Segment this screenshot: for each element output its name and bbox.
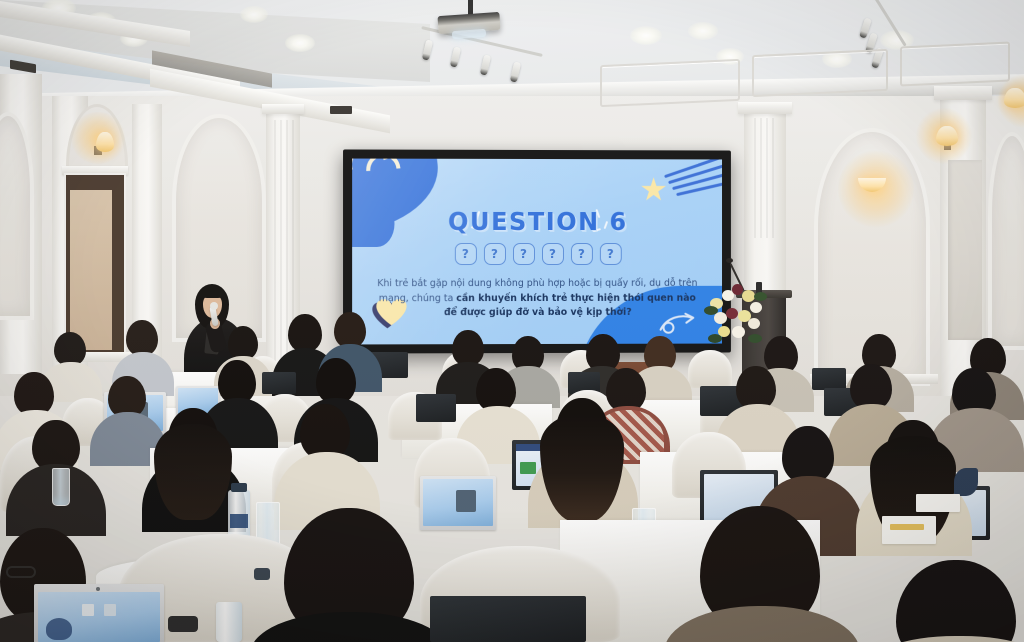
laptop[interactable] [262,372,296,394]
slide-question-text: Khi trẻ bắt gặp nội dung không phù hợp h… [374,277,700,321]
right-doorway[interactable] [948,160,982,340]
podium-microphone [726,258,733,263]
hair-clip-icon [954,468,978,496]
downlight [630,26,662,45]
attendee-long-hair [154,424,232,520]
air-vent [330,106,352,114]
pilaster-cap-mid [262,104,304,114]
wall-sconce-left [96,132,114,152]
pilaster-flute [772,118,774,238]
laptop-foreground[interactable] [430,596,586,642]
downlight [688,22,718,40]
table-puck [254,568,270,580]
attendee-head [228,326,258,360]
wall-sconce-far-right [1004,88,1024,108]
question-mark-icon: ? [570,243,592,265]
wall-panel [752,49,888,97]
laptop-screen-thumb [456,490,476,512]
slide-question-bold: cần khuyến khích trẻ thực hiện thói quen… [444,292,696,318]
speaker-hair-fringe [199,286,226,298]
bottle-cap [231,483,247,492]
shooting-star-icon [641,177,667,202]
flower-leaf [754,292,767,301]
pilaster-flute [754,118,756,238]
question-mark-icon: ? [483,243,505,265]
drinking-glass [52,468,70,506]
laptop-screen-badge [520,462,536,474]
flower-petal [748,318,760,329]
wall-panel [900,42,1010,87]
water-bottle-foreground [216,602,242,642]
flower-leaf [704,306,718,315]
flower-arrangement [704,276,768,354]
wall-panel [600,59,740,107]
notebook[interactable] [882,516,936,544]
question-mark-icon: ? [454,243,476,265]
flower-petal [750,302,762,313]
presentation-slide: QUESTION 6 ? ? ? ? ? ? Khi trẻ bắt gặp n… [352,159,722,345]
attendee-head [54,332,86,366]
desktop-icon[interactable] [82,604,94,616]
pilaster-cap-right-outer [934,86,992,100]
pilaster-flute [274,120,276,370]
flower-leaf [708,334,722,343]
bottle-label [230,514,248,528]
downlight [285,34,315,52]
attendee-head-foreground [896,560,1016,642]
arched-niche-far-right [992,136,1024,346]
pilaster-flute [760,118,762,238]
question-mark-icon: ? [599,243,621,265]
slide-title: QUESTION 6 [360,207,715,236]
question-mark-icon: ? [512,243,534,265]
attendee-head [288,314,322,352]
attendee-head [126,320,158,356]
attendee-head [334,312,366,348]
desktop-wallpaper-shape [46,618,72,640]
flower-petal [726,308,738,319]
notebook-accent [890,524,924,530]
pilaster-flute [280,120,282,370]
papers[interactable] [916,494,960,512]
question-mark-row: ? ? ? ? ? ? [352,243,722,265]
door-leaf[interactable] [70,190,112,350]
laptop[interactable] [416,394,456,422]
chair [688,350,732,388]
conference-hall-photo: QUESTION 6 ? ? ? ? ? ? Khi trẻ bắt gặp n… [0,0,1024,642]
laptop-camera-icon [96,587,100,591]
desktop-icon[interactable] [104,604,116,616]
eyeglasses-icon [6,566,36,578]
flower-petal [732,326,745,338]
table-puck [168,616,198,632]
wall-sconce-right [936,126,958,146]
door-header [62,166,128,175]
question-mark-icon: ? [541,243,563,265]
pilaster-cap-right-screen [738,102,792,114]
pilaster-flute [766,118,768,238]
microphone-head-icon [210,302,218,310]
downlight [240,6,268,23]
attendee-head [452,330,484,366]
laptop[interactable] [812,368,846,390]
projection-screen: QUESTION 6 ? ? ? ? ? ? Khi trẻ bắt gặp n… [343,149,731,353]
arched-niche-far-left [0,116,30,316]
flower-leaf [748,334,762,343]
